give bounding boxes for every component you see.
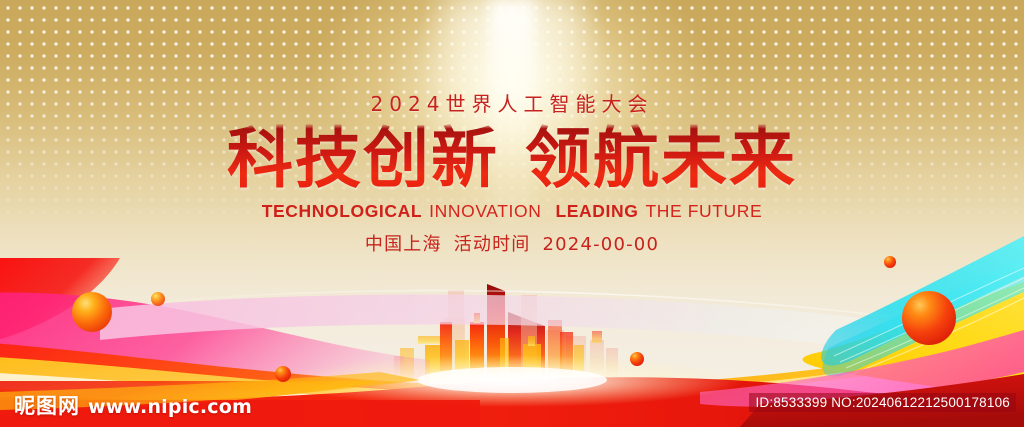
poster-canvas: 2024世界人工智能大会 科技创新领航未来 TECHNOLOGICALINNOV…	[0, 0, 1024, 427]
sphere-right-small	[884, 256, 896, 268]
horizon-glow-core	[417, 367, 607, 393]
sphere-left-small	[151, 292, 165, 306]
sphere-mid-small	[275, 366, 291, 382]
sphere-left-large	[72, 292, 112, 332]
sphere-right-large	[902, 291, 956, 345]
decorative-artwork	[0, 0, 1024, 427]
sphere-bottom-small	[630, 352, 644, 366]
